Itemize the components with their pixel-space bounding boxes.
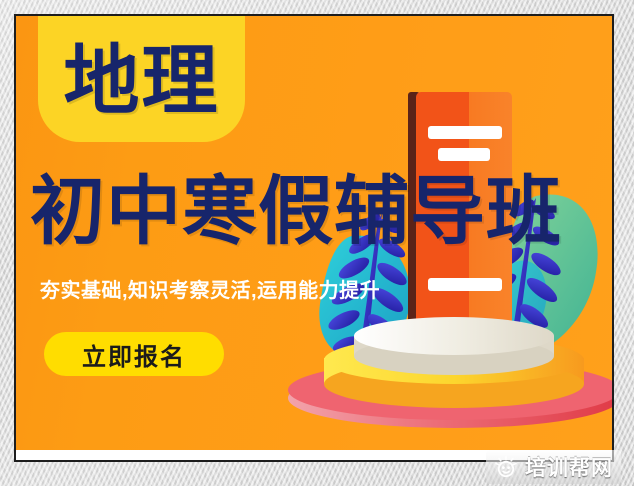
watermark-label: 培训帮网 [525, 452, 613, 482]
promo-banner-card: 地理 [14, 14, 614, 462]
book-podium-illustration [286, 86, 612, 450]
site-watermark: 培训帮网 [486, 450, 621, 484]
enroll-now-button-label: 立即报名 [82, 337, 186, 372]
subject-badge-label: 地理 [64, 44, 220, 142]
enroll-now-button[interactable]: 立即报名 [44, 332, 224, 376]
banner-headline: 初中寒假辅导班 [30, 174, 602, 249]
banner-artboard: 地理 [16, 16, 612, 450]
sun-face-icon [494, 455, 518, 479]
banner-subtitle: 夯实基础,知识考察灵活,运用能力提升 [40, 274, 380, 303]
subject-badge: 地理 [38, 16, 245, 142]
